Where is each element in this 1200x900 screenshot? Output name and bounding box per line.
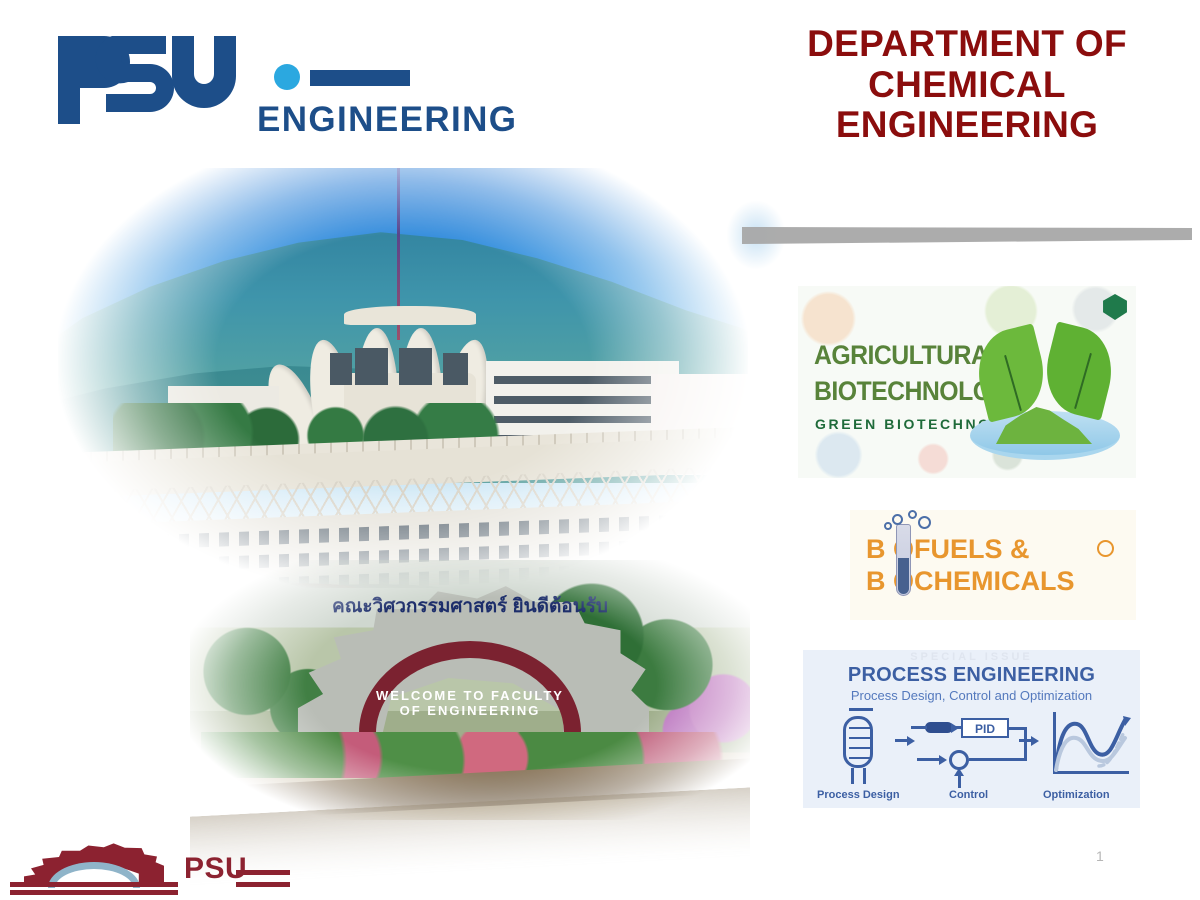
page-title: DEPARTMENT OF CHEMICAL ENGINEERING [742,24,1192,146]
agri-title-line-1: AGRICULTURAL [814,342,1003,369]
test-tube-icon [896,524,911,596]
bubble-ring-icon [1097,540,1114,557]
footer-logo-text: PSU [184,854,247,884]
title-divider-bar [742,227,1192,244]
logo-accent-dot-icon [274,64,300,90]
proc-label-process-design: Process Design [817,789,900,801]
psu-logo-icon [52,28,242,136]
bio-title-line-1: B OFUELS & [866,534,1030,565]
logo-wordmark: ENGINEERING [257,102,517,137]
optimization-curves-icon [1053,708,1133,776]
sign-thai-text: คณะวิศวกรรมศาสตร์ ยินดีต้อนรับ [291,591,649,621]
sign-english-text: WELCOME TO FACULTY OF ENGINEERING [376,688,564,718]
proc-watermark: SPECIAL ISSUE [803,651,1140,663]
lotus-cap [344,306,476,325]
proc-label-control: Control [949,789,988,801]
title-line-3: ENGINEERING [742,105,1192,146]
proc-heading: PROCESS ENGINEERING [803,664,1140,687]
card-process-engineering[interactable]: SPECIAL ISSUE PROCESS ENGINEERING Proces… [803,650,1140,808]
pid-controller-box: PID [961,718,1009,738]
card-biofuels-biochemicals[interactable]: B OFUELS & B OCHEMICALS [850,510,1136,620]
faculty-welcome-sign-photo: คณะวิศวกรรมศาสตร์ ยินดีต้อนรับ WELCOME T… [190,560,750,820]
proc-label-optimization: Optimization [1043,789,1110,801]
summing-junction-icon [949,750,969,770]
vessel-top-icon [849,708,873,711]
psu-engineering-logo: ENGINEERING [52,28,572,136]
title-line-2: CHEMICAL [742,65,1192,106]
card-agricultural-biotechnology[interactable]: AGRICULTURAL BIOTECHNOLOGY GREEN BIOTECH… [798,286,1136,478]
logo-dash-icon [310,70,410,86]
title-line-1: DEPARTMENT OF [742,24,1192,65]
psu-campus-building-photo [58,168,748,588]
page-number: 1 [1096,848,1104,864]
sensor-pill-icon [925,722,953,733]
slide-root: ENGINEERING DEPARTMENT OF CHEMICAL ENGIN… [0,0,1200,900]
proc-subtitle: Process Design, Control and Optimization [803,688,1140,703]
process-vessel-icon [843,716,873,768]
psu-gear-footer-logo: PSU [10,838,290,900]
